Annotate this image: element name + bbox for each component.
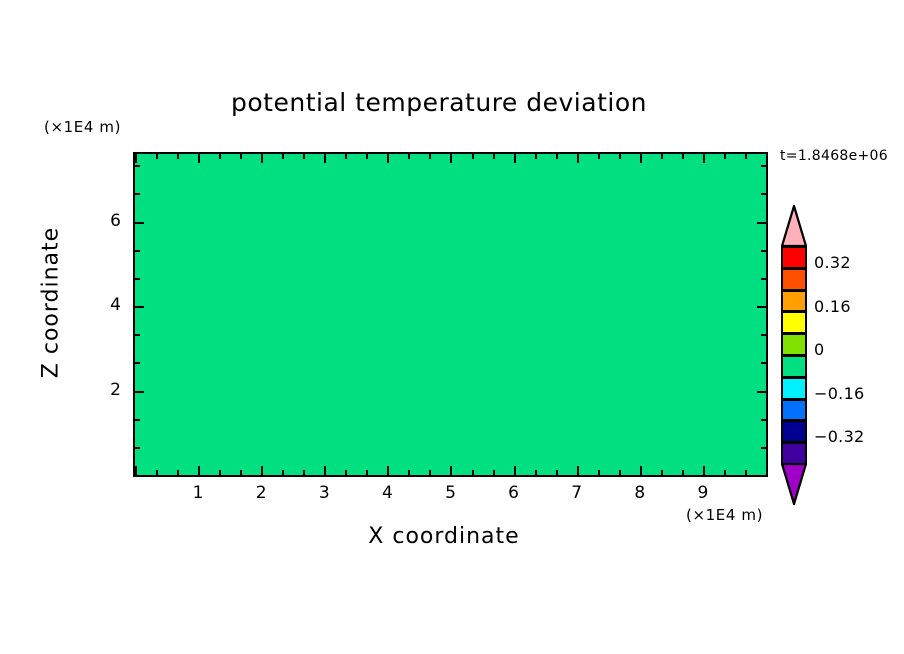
colorbar-under-arrow <box>781 463 807 505</box>
x-top-tick <box>345 154 347 159</box>
y-right-tick <box>757 391 766 393</box>
x-top-tick <box>387 154 389 163</box>
x-top-tick <box>619 154 621 159</box>
x-top-tick <box>324 154 326 163</box>
x-top-tick <box>219 154 221 159</box>
x-major-tick <box>261 466 263 475</box>
colorbar-band <box>781 268 807 291</box>
y-right-tick <box>757 475 766 477</box>
x-tick-label: 8 <box>625 483 655 503</box>
colorbar-band <box>781 377 807 400</box>
x-top-tick <box>261 154 263 163</box>
x-tick-label: 3 <box>309 483 339 503</box>
y-right-tick <box>761 250 766 252</box>
x-minor-tick <box>429 470 431 475</box>
colorbar-band <box>781 420 807 443</box>
colorbar-band <box>781 290 807 313</box>
colorbar-tick-label: 0 <box>814 340 824 359</box>
y-minor-tick <box>135 165 140 167</box>
x-top-tick <box>724 154 726 159</box>
x-minor-tick <box>682 470 684 475</box>
x-top-tick <box>661 154 663 159</box>
y-major-tick <box>135 475 144 477</box>
x-top-tick <box>493 154 495 159</box>
y-right-tick <box>761 278 766 280</box>
colorbar-band <box>781 399 807 422</box>
x-minor-tick <box>345 470 347 475</box>
y-right-tick <box>761 334 766 336</box>
x-major-tick <box>198 466 200 475</box>
temperature-deviation-field <box>135 154 766 475</box>
x-major-tick <box>387 466 389 475</box>
x-top-tick <box>577 154 579 163</box>
x-minor-tick <box>661 470 663 475</box>
x-minor-tick <box>472 470 474 475</box>
colorbar <box>781 205 807 505</box>
x-tick-label: 5 <box>436 483 466 503</box>
y-right-tick <box>757 222 766 224</box>
x-minor-tick <box>493 470 495 475</box>
x-top-tick <box>766 154 768 163</box>
x-minor-tick <box>366 470 368 475</box>
colorbar-band <box>781 246 807 269</box>
x-top-tick <box>177 154 179 159</box>
y-minor-tick <box>135 447 140 449</box>
y-major-tick <box>135 306 144 308</box>
y-minor-tick <box>135 278 140 280</box>
x-tick-label: 2 <box>246 483 276 503</box>
page-title: potential temperature deviation <box>0 88 904 117</box>
x-top-tick <box>535 154 537 159</box>
colorbar-band <box>781 442 807 465</box>
y-tick-label: 2 <box>91 380 121 400</box>
x-major-tick <box>640 466 642 475</box>
y-minor-tick <box>135 193 140 195</box>
colorbar-tick-label: 0.32 <box>814 253 851 272</box>
colorbar-band <box>781 333 807 356</box>
z-axis-unit-label: (×1E4 m) <box>44 118 121 136</box>
x-axis-unit-label: (×1E4 m) <box>686 506 763 524</box>
x-top-tick <box>640 154 642 163</box>
x-tick-label: 1 <box>183 483 213 503</box>
x-major-tick <box>766 466 768 475</box>
x-top-tick <box>198 154 200 163</box>
x-minor-tick <box>535 470 537 475</box>
x-minor-tick <box>156 470 158 475</box>
x-top-tick <box>472 154 474 159</box>
x-top-tick <box>514 154 516 163</box>
x-top-tick <box>366 154 368 159</box>
x-top-tick <box>450 154 452 163</box>
colorbar-band <box>781 311 807 334</box>
x-minor-tick <box>724 470 726 475</box>
x-minor-tick <box>219 470 221 475</box>
plot-title-text: potential temperature deviation <box>231 88 647 117</box>
x-top-tick <box>240 154 242 159</box>
x-major-tick <box>450 466 452 475</box>
y-right-tick <box>761 165 766 167</box>
x-minor-tick <box>240 470 242 475</box>
y-tick-label: 6 <box>91 211 121 231</box>
x-major-tick <box>703 466 705 475</box>
colorbar-band <box>781 355 807 378</box>
y-minor-tick <box>135 419 140 421</box>
y-minor-tick <box>135 250 140 252</box>
y-minor-tick <box>135 362 140 364</box>
x-minor-tick <box>177 470 179 475</box>
x-top-tick <box>556 154 558 159</box>
colorbar-bands <box>781 246 807 464</box>
figure-canvas: potential temperature deviation (×1E4 m)… <box>0 0 904 654</box>
y-minor-tick <box>135 334 140 336</box>
x-top-tick <box>682 154 684 159</box>
x-major-tick <box>324 466 326 475</box>
x-tick-label: 4 <box>372 483 402 503</box>
x-tick-label: 9 <box>688 483 718 503</box>
x-top-tick <box>745 154 747 159</box>
x-top-tick <box>135 154 137 163</box>
x-minor-tick <box>408 470 410 475</box>
y-right-tick <box>757 306 766 308</box>
x-minor-tick <box>556 470 558 475</box>
contour-plot-area <box>133 152 768 477</box>
x-minor-tick <box>745 470 747 475</box>
y-axis-title: Z coordinate <box>39 223 64 383</box>
colorbar-tick-label: −0.16 <box>814 384 865 403</box>
x-major-tick <box>514 466 516 475</box>
x-tick-label: 7 <box>562 483 592 503</box>
x-minor-tick <box>598 470 600 475</box>
x-minor-tick <box>282 470 284 475</box>
colorbar-over-arrow <box>781 205 807 247</box>
x-major-tick <box>135 466 137 475</box>
x-top-tick <box>703 154 705 163</box>
colorbar-tick-label: −0.32 <box>814 427 865 446</box>
y-right-tick <box>761 193 766 195</box>
x-minor-tick <box>303 470 305 475</box>
x-axis-title: X coordinate <box>0 524 904 549</box>
y-right-tick <box>761 447 766 449</box>
x-top-tick <box>408 154 410 159</box>
y-major-tick <box>135 222 144 224</box>
y-right-tick <box>761 419 766 421</box>
x-tick-label: 6 <box>499 483 529 503</box>
y-right-tick <box>761 362 766 364</box>
x-top-tick <box>598 154 600 159</box>
y-major-tick <box>135 391 144 393</box>
colorbar-tick-label: 0.16 <box>814 297 851 316</box>
y-tick-label: 4 <box>91 295 121 315</box>
x-top-tick <box>429 154 431 159</box>
time-stamp-label: t=1.8468e+06 <box>780 148 888 164</box>
x-top-tick <box>156 154 158 159</box>
x-top-tick <box>282 154 284 159</box>
x-major-tick <box>577 466 579 475</box>
x-minor-tick <box>619 470 621 475</box>
x-top-tick <box>303 154 305 159</box>
